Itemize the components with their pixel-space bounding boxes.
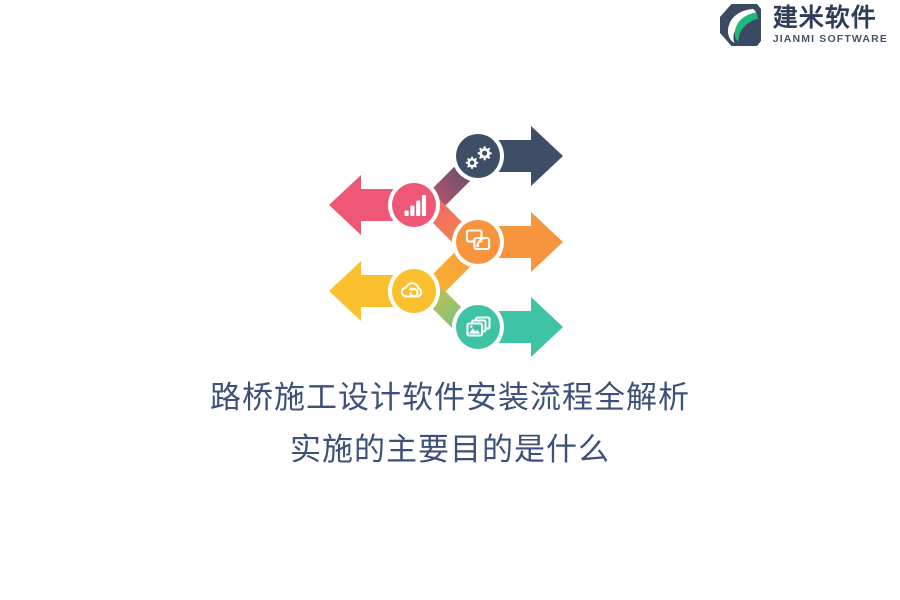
step-2-badge [388,179,440,231]
page-title: 路桥施工设计软件安装流程全解析 实施的主要目的是什么 [0,372,900,476]
step-1-badge [452,130,504,182]
brand-name-en: JIANMI SOFTWARE [773,34,888,45]
process-infographic [325,118,575,363]
step-3-badge [452,216,504,268]
step-4-badge [388,265,440,317]
step-5-badge [452,301,504,353]
process-infographic-svg [325,118,575,363]
jianmi-leaf-logo-icon [717,2,765,48]
page-title-line-1: 路桥施工设计软件安装流程全解析 [0,372,900,424]
brand-name-cn: 建米软件 [773,5,877,31]
page-title-line-2: 实施的主要目的是什么 [0,424,900,476]
brand-text: 建米软件 JIANMI SOFTWARE [773,5,888,45]
brand-logo: 建米软件 JIANMI SOFTWARE [717,0,888,50]
